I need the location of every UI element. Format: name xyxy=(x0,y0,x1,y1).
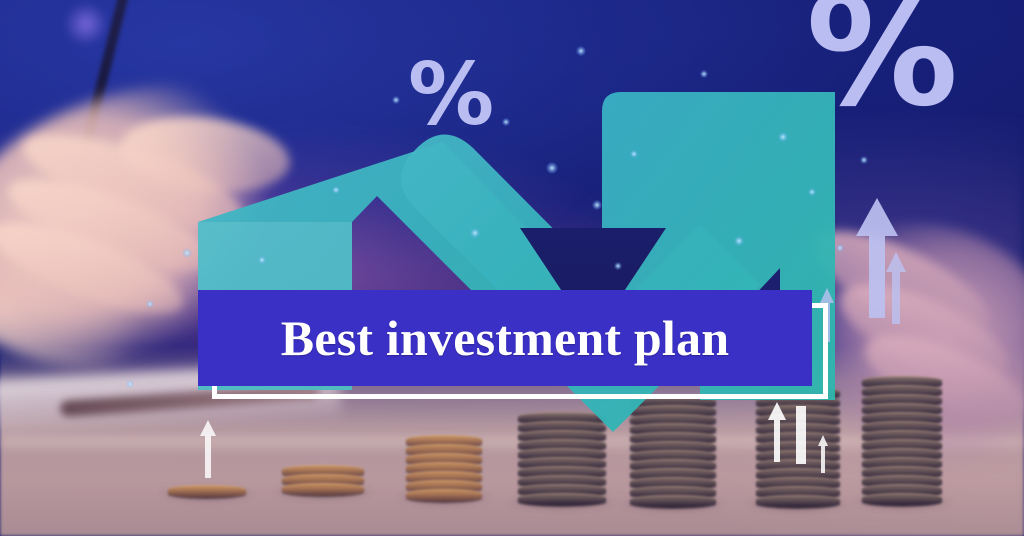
sparkle xyxy=(470,228,480,238)
coin-stack-5 xyxy=(630,392,716,508)
coin-stack-7 xyxy=(862,372,942,506)
sparkle xyxy=(860,156,868,164)
sparkle xyxy=(546,162,558,174)
sparkle xyxy=(778,132,788,142)
headline-banner: Best investment plan xyxy=(198,290,812,386)
hero-banner: % % Best investment plan xyxy=(0,0,1024,536)
coin xyxy=(406,489,482,502)
up-arrow-icon xyxy=(884,250,908,326)
up-arrow-icon xyxy=(198,418,218,480)
sparkle xyxy=(502,118,510,126)
sparkle xyxy=(576,46,586,56)
coin-stack-1 xyxy=(168,481,246,498)
sparkle xyxy=(808,188,816,196)
coin-stack-2 xyxy=(282,461,364,496)
percent-symbol-small: % xyxy=(408,52,492,138)
sparkle xyxy=(126,380,134,388)
sparkle xyxy=(592,200,602,210)
coin xyxy=(630,495,716,508)
up-arrow-icon xyxy=(816,434,830,474)
sparkle xyxy=(630,150,638,158)
sparkle xyxy=(836,244,844,252)
page-title: Best investment plan xyxy=(281,313,729,363)
coin xyxy=(282,483,364,496)
sparkle xyxy=(182,248,192,258)
coin xyxy=(168,485,246,498)
sparkle xyxy=(392,96,400,104)
sparkle xyxy=(734,236,744,246)
sparkle xyxy=(332,186,340,194)
coin xyxy=(518,493,606,506)
coin-stack-4 xyxy=(518,408,606,506)
pen-glint xyxy=(64,2,108,46)
sparkle xyxy=(614,262,622,270)
sparkle xyxy=(700,70,708,78)
coin xyxy=(862,493,942,506)
up-arrow-icon xyxy=(792,406,810,464)
sparkle xyxy=(258,256,266,264)
coin-stack-3 xyxy=(406,431,482,502)
coin xyxy=(756,495,840,508)
sparkle xyxy=(146,300,154,308)
percent-symbol-large: % xyxy=(806,0,954,128)
up-arrow-icon xyxy=(766,400,788,464)
